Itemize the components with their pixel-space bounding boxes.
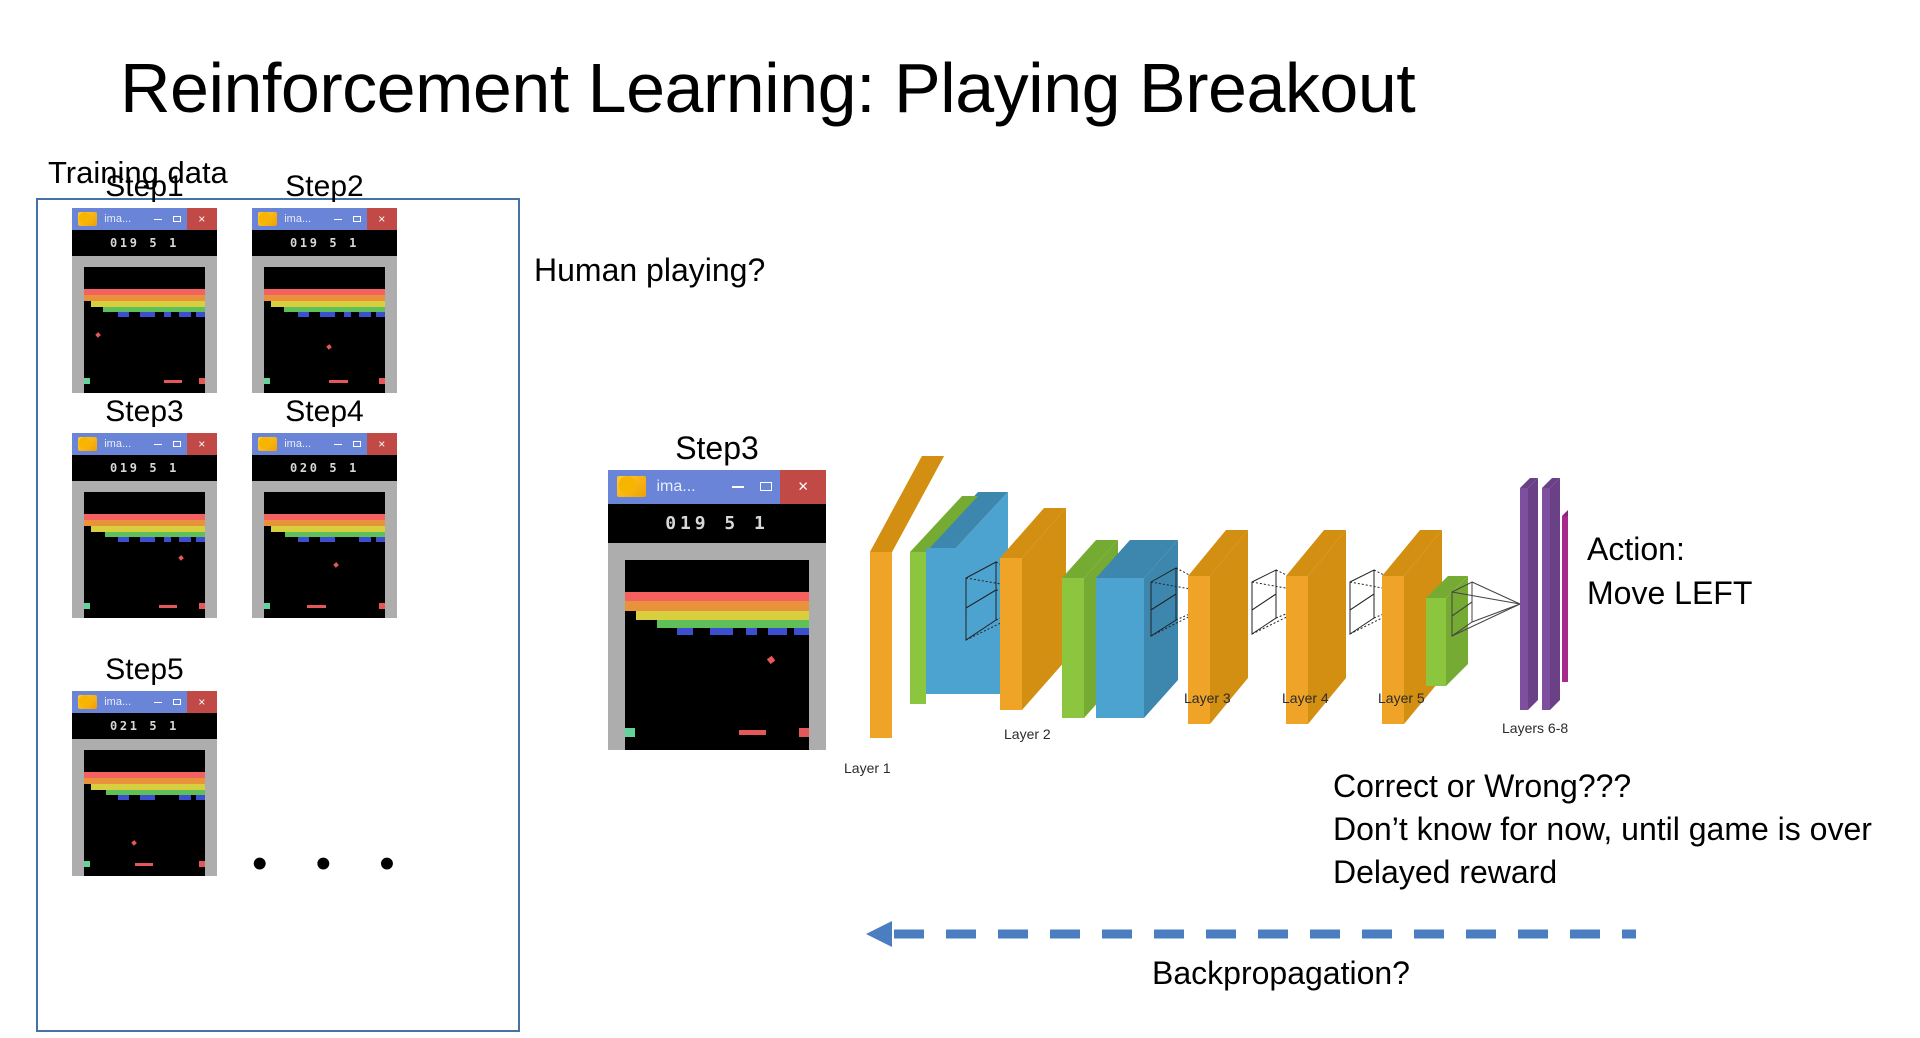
game-play-area [252,481,397,618]
game-score-display: 019 5 1 [72,455,217,481]
window-title-bar[interactable]: ima...× [72,208,217,230]
brick-segment [359,312,371,317]
layer2-orange-slab [1000,508,1066,710]
life-indicator-right [199,603,205,609]
backprop-arrow-svg [866,918,1636,952]
brick-segment [376,537,386,542]
reward-line-2: Don’t know for now, until game is over [1333,808,1872,851]
maximize-icon[interactable] [168,208,187,230]
game-score-display: 019 5 1 [608,504,826,543]
breakout-window[interactable]: ima...×019 5 1 [72,208,217,393]
action-output-line1: Action: [1587,527,1752,571]
window-control-buttons: × [149,691,217,713]
game-paddle [159,605,177,608]
maximize-icon[interactable] [752,470,780,504]
brick-segment [298,537,309,542]
game-score-display: 021 5 1 [72,713,217,739]
training-step-item: Step2ima...×019 5 1 [252,172,397,393]
brick-segment [179,312,191,317]
close-icon[interactable]: × [187,433,217,455]
maximize-icon[interactable] [168,433,187,455]
window-title-text: ima... [284,213,329,225]
brick-segment [794,628,809,635]
python-app-icon [78,695,97,709]
game-score-display: 019 5 1 [72,230,217,256]
close-icon[interactable]: × [187,691,217,713]
brick-segment [320,312,336,317]
life-indicator-right [379,603,385,609]
slide-canvas: Reinforcement Learning: Playing Breakout… [0,0,1920,1038]
life-indicator-right [199,861,205,867]
action-output: Action: Move LEFT [1587,527,1752,615]
game-play-area [72,256,217,393]
human-playing-question: Human playing? [534,252,765,289]
brick-segment [140,795,156,800]
game-field [264,492,386,618]
game-screen: 021 5 1 [72,713,217,876]
close-icon[interactable]: × [367,208,397,230]
brick-row [657,620,809,628]
cnn-label-layer-3: Layer 3 [1184,690,1231,706]
brick-segment [179,795,191,800]
close-icon[interactable]: × [367,433,397,455]
arrow-head-left-icon [866,921,892,947]
reward-line-1: Correct or Wrong??? [1333,765,1872,808]
python-app-icon [258,437,277,451]
maximize-icon[interactable] [168,691,187,713]
python-app-icon [78,437,97,451]
brick-segment [344,312,351,317]
brick-segment [320,537,336,542]
game-ball [95,332,100,337]
minimize-icon[interactable] [149,433,168,455]
maximize-icon[interactable] [348,208,367,230]
window-title-text: ima... [104,696,149,708]
brick-segment [359,537,371,542]
brick-segment [164,537,171,542]
window-title-bar[interactable]: ima...× [252,433,397,455]
game-paddle [307,605,325,608]
game-paddle [329,380,347,383]
game-field [264,267,386,393]
minimize-icon[interactable] [149,208,168,230]
window-title-bar[interactable]: ima...× [608,470,826,504]
window-control-buttons: × [149,208,217,230]
reward-explanation: Correct or Wrong??? Don’t know for now, … [1333,765,1872,894]
window-title-bar[interactable]: ima...× [72,691,217,713]
layers-6-8-bars [1520,478,1568,710]
close-icon[interactable]: × [780,470,826,504]
brick-segment [298,312,309,317]
reward-line-3: Delayed reward [1333,851,1872,894]
cnn-svg [848,430,1568,790]
game-play-area [252,256,397,393]
brick-segment [768,628,786,635]
window-title-bar[interactable]: ima...× [72,433,217,455]
minimize-icon[interactable] [329,433,348,455]
breakout-window[interactable]: ima...×019 5 1 [608,470,826,750]
training-step-label: Step3 [72,397,217,427]
brick-segment [196,312,206,317]
game-paddle [739,730,766,735]
life-indicator-right [799,728,808,737]
life-indicator-left [84,861,90,867]
brick-segment [746,628,757,635]
current-step-item: Step3ima...×019 5 1 [608,432,826,750]
game-play-area [72,481,217,618]
minimize-icon[interactable] [724,470,752,504]
cnn-label-layer-2: Layer 2 [1004,726,1051,742]
action-output-line2: Move LEFT [1587,571,1752,615]
life-indicator-left [84,603,90,609]
game-paddle [135,863,153,866]
window-control-buttons: × [329,208,397,230]
brick-segment [164,312,171,317]
cnn-label-layers-6-8: Layers 6-8 [1502,720,1568,736]
brick-segment [677,628,693,635]
life-indicator-right [379,378,385,384]
brick-row [625,592,808,602]
training-step-item: Step1ima...×019 5 1 [72,172,217,393]
cnn-label-layer-1: Layer 1 [844,760,891,776]
training-step-item: Step3ima...×019 5 1 [72,397,217,618]
brick-row [636,611,808,620]
life-indicator-right [199,378,205,384]
brick-row [625,601,808,611]
brick-segment [140,312,156,317]
game-play-area [608,543,826,750]
game-field [84,750,206,876]
training-step-label: Step1 [72,172,217,202]
life-indicator-left [84,378,90,384]
page-title: Reinforcement Learning: Playing Breakout [120,48,1415,128]
python-app-icon [258,212,277,226]
breakout-window[interactable]: ima...×020 5 1 [252,433,397,618]
current-step-label: Step3 [608,432,826,464]
game-score-display: 020 5 1 [252,455,397,481]
brick-segment [118,537,129,542]
window-title-text: ima... [104,438,149,450]
window-control-buttons: × [724,470,826,504]
game-ball [178,556,183,561]
brick-segment [179,537,191,542]
window-control-buttons: × [149,433,217,455]
cnn-label-layer-4: Layer 4 [1282,690,1329,706]
more-steps-ellipsis: • • • [252,842,413,886]
breakout-window[interactable]: ima...×019 5 1 [252,208,397,393]
life-indicator-left [264,378,270,384]
backpropagation-label: Backpropagation? [1152,955,1410,992]
window-title-text: ima... [284,438,329,450]
life-indicator-left [625,728,634,737]
game-screen: 019 5 1 [72,455,217,618]
breakout-window[interactable]: ima...×021 5 1 [72,691,217,876]
backpropagation-arrow [866,918,1636,952]
game-screen: 020 5 1 [252,455,397,618]
game-screen: 019 5 1 [72,230,217,393]
close-icon[interactable]: × [187,208,217,230]
game-score-display: 019 5 1 [252,230,397,256]
training-step-label: Step5 [72,655,217,685]
game-screen: 019 5 1 [608,504,826,750]
window-title-text: ima... [104,213,149,225]
game-ball [333,562,338,567]
game-field [84,267,206,393]
training-step-item: Step5ima...×021 5 1 [72,655,217,876]
minimize-icon[interactable] [149,691,168,713]
training-step-label: Step2 [252,172,397,202]
life-indicator-left [264,603,270,609]
game-play-area [72,739,217,876]
window-title-bar[interactable]: ima...× [252,208,397,230]
brick-segment [376,312,386,317]
brick-segment [118,795,129,800]
game-ball [132,840,137,845]
training-step-label: Step4 [252,397,397,427]
brick-segment [710,628,734,635]
game-ball [767,655,775,663]
window-title-text: ima... [656,478,723,496]
game-field [84,492,206,618]
game-ball [326,344,331,349]
window-control-buttons: × [329,433,397,455]
python-app-icon [78,212,97,226]
brick-segment [196,795,206,800]
brick-segment [196,537,206,542]
cnn-label-layer-5: Layer 5 [1378,690,1425,706]
breakout-window[interactable]: ima...×019 5 1 [72,433,217,618]
minimize-icon[interactable] [329,208,348,230]
game-paddle [164,380,182,383]
training-step-item: Step4ima...×020 5 1 [252,397,397,618]
python-app-icon [617,476,646,497]
cnn-diagram: Layer 1 Layer 2 Layer 3 Layer 4 Layer 5 … [848,430,1568,790]
game-field [625,560,808,750]
brick-segment [118,312,129,317]
brick-segment [140,537,156,542]
maximize-icon[interactable] [348,433,367,455]
game-screen: 019 5 1 [252,230,397,393]
